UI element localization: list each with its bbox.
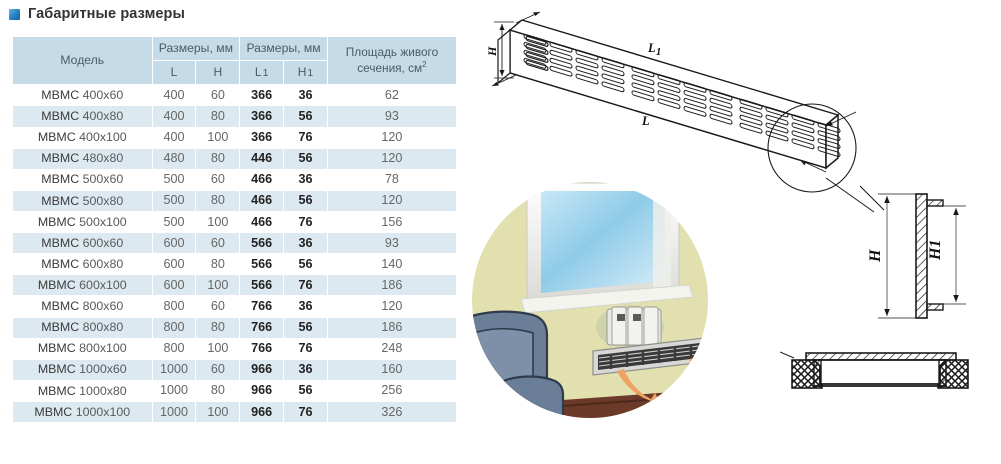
table-row: МВМС 800x10080010076676248 (13, 338, 457, 359)
flange-top (927, 200, 943, 206)
cell-free-area: 248 (327, 338, 456, 359)
cell-length-inner: 966 (240, 402, 284, 423)
cell-height-inner: 36 (284, 169, 328, 190)
cell-free-area: 78 (327, 169, 456, 190)
cell-length: 800 (152, 317, 196, 338)
cell-length-inner: 466 (240, 190, 284, 211)
cell-model: МВМС 600x60 (13, 233, 153, 254)
table-header-row-1: Модель Размеры, мм Размеры, мм Площадь ж… (13, 37, 457, 61)
table-row: МВМС 1000x8010008096656256 (13, 380, 457, 401)
cell-length: 500 (152, 169, 196, 190)
model-prefix: МВМС (38, 384, 76, 398)
model-size: 1000x100 (76, 405, 130, 419)
cell-free-area: 120 (327, 127, 456, 148)
free-area-line-2: сечения, см (357, 61, 422, 75)
svg-text:L: L (647, 41, 656, 55)
cell-length: 1000 (152, 402, 196, 423)
table-row: МВМС 800x608006076636120 (13, 296, 457, 317)
cell-height-inner: 36 (284, 296, 328, 317)
cell-height: 100 (196, 275, 240, 296)
svg-text:H: H (867, 249, 884, 263)
model-size: 1000x80 (79, 384, 127, 398)
model-prefix: МВМС (41, 320, 79, 334)
model-prefix: МВМС (41, 194, 79, 208)
model-prefix: МВМС (41, 151, 79, 165)
table-row: МВМС 480x804808044656120 (13, 148, 457, 169)
cell-height-inner: 56 (284, 148, 328, 169)
model-size: 480x80 (83, 151, 124, 165)
cell-height-inner: 56 (284, 380, 328, 401)
cell-model: МВМС 500x80 (13, 190, 153, 211)
svg-text:1: 1 (656, 47, 661, 58)
cell-height-inner: 56 (284, 317, 328, 338)
model-prefix: МВМС (41, 257, 79, 271)
cell-model: МВМС 400x80 (13, 106, 153, 127)
model-prefix: МВМС (41, 299, 79, 313)
cell-model: МВМС 400x60 (13, 85, 153, 106)
cell-length: 400 (152, 85, 196, 106)
table-row: МВМС 500x10050010046676156 (13, 212, 457, 233)
cell-free-area: 140 (327, 254, 456, 275)
cell-free-area: 326 (327, 402, 456, 423)
cell-height: 80 (196, 380, 240, 401)
model-size: 600x80 (83, 257, 124, 271)
duct-wall-left (814, 360, 821, 386)
cell-model: МВМС 800x100 (13, 338, 153, 359)
cell-height: 60 (196, 296, 240, 317)
table-row: МВМС 400x80400803665693 (13, 106, 457, 127)
cell-height-inner: 76 (284, 275, 328, 296)
cell-free-area: 186 (327, 275, 456, 296)
model-size: 400x100 (79, 130, 127, 144)
cell-free-area: 93 (327, 106, 456, 127)
cell-height-inner: 76 (284, 338, 328, 359)
free-area-line-1: Площадь живого (346, 45, 438, 59)
vertical-cross-section: H H1 (860, 180, 995, 345)
table-row: МВМС 1000x100100010096676326 (13, 402, 457, 423)
duct-wall-right (939, 360, 946, 386)
cell-free-area: 93 (327, 233, 456, 254)
cell-height-inner: 56 (284, 190, 328, 211)
cell-model: МВМС 1000x80 (13, 380, 153, 401)
cell-height: 80 (196, 317, 240, 338)
cell-length-inner: 566 (240, 275, 284, 296)
cell-free-area: 156 (327, 212, 456, 233)
cell-free-area: 62 (327, 85, 456, 106)
cell-length-inner: 466 (240, 212, 284, 233)
cell-height: 100 (196, 402, 240, 423)
cell-length: 480 (152, 148, 196, 169)
cell-height-inner: 36 (284, 359, 328, 380)
cell-model: МВМС 400x100 (13, 127, 153, 148)
column-header-h1-index: 1 (306, 67, 313, 79)
model-size: 600x60 (83, 236, 124, 250)
cell-model: МВМС 1000x100 (13, 402, 153, 423)
dimension-h: H (867, 194, 920, 318)
model-size: 600x100 (79, 278, 127, 292)
model-prefix: МВМС (41, 88, 79, 102)
cell-height: 80 (196, 190, 240, 211)
cell-height-inner: 56 (284, 106, 328, 127)
cell-height: 100 (196, 338, 240, 359)
cell-length: 400 (152, 127, 196, 148)
blue-square-bullet-icon (9, 9, 20, 20)
cell-length: 600 (152, 233, 196, 254)
column-header-l1-index: 1 (262, 67, 269, 79)
cell-length-inner: 766 (240, 296, 284, 317)
column-header-l1: L1 (240, 61, 284, 85)
cell-length-inner: 366 (240, 106, 284, 127)
cell-free-area: 160 (327, 359, 456, 380)
cell-model: МВМС 800x60 (13, 296, 153, 317)
cell-height: 80 (196, 106, 240, 127)
model-size: 400x80 (83, 109, 124, 123)
cell-free-area: 120 (327, 148, 456, 169)
cell-length: 600 (152, 254, 196, 275)
model-size: 500x100 (79, 215, 127, 229)
model-prefix: МВМС (41, 236, 79, 250)
cell-height: 80 (196, 148, 240, 169)
faceplate-horizontal (806, 353, 956, 360)
cell-height-inner: 76 (284, 127, 328, 148)
cell-length-inner: 966 (240, 380, 284, 401)
horizontal-cross-section-in-wall (780, 332, 980, 412)
cell-free-area: 186 (327, 317, 456, 338)
model-size: 800x60 (83, 299, 124, 313)
cell-length-inner: 766 (240, 317, 284, 338)
model-prefix: МВМС (41, 109, 79, 123)
cell-length-inner: 366 (240, 85, 284, 106)
model-prefix: МВМС (38, 130, 76, 144)
cell-height-inner: 56 (284, 254, 328, 275)
model-prefix: МВМС (38, 341, 76, 355)
table-row: МВМС 400x10040010036676120 (13, 127, 457, 148)
cell-model: МВМС 480x80 (13, 148, 153, 169)
svg-text:H: H (485, 46, 499, 57)
cell-height: 100 (196, 212, 240, 233)
cell-length-inner: 466 (240, 169, 284, 190)
cell-length: 500 (152, 212, 196, 233)
model-prefix: МВМС (38, 278, 76, 292)
cell-length: 800 (152, 338, 196, 359)
cell-height: 60 (196, 359, 240, 380)
cell-length: 800 (152, 296, 196, 317)
cell-length-inner: 566 (240, 233, 284, 254)
duct-body (814, 360, 946, 384)
cell-height-inner: 36 (284, 85, 328, 106)
cell-length-inner: 566 (240, 254, 284, 275)
detail-leader-in (860, 186, 884, 210)
cell-free-area: 120 (327, 296, 456, 317)
column-header-model: Модель (13, 37, 153, 85)
technical-drawings-panel: H L 1 L (470, 0, 1001, 464)
cell-length-inner: 766 (240, 338, 284, 359)
faceplate (916, 194, 927, 318)
cell-height: 80 (196, 254, 240, 275)
page-title-text: Габаритные размеры (28, 6, 185, 22)
cell-free-area: 120 (327, 190, 456, 211)
cell-length-inner: 446 (240, 148, 284, 169)
cell-model: МВМС 500x60 (13, 169, 153, 190)
model-size: 500x80 (83, 194, 124, 208)
table-row: МВМС 600x806008056656140 (13, 254, 457, 275)
table-row: МВМС 1000x6010006096636160 (13, 359, 457, 380)
cell-height-inner: 36 (284, 233, 328, 254)
cell-length: 1000 (152, 380, 196, 401)
column-header-h: H (196, 61, 240, 85)
cell-length-inner: 966 (240, 359, 284, 380)
table-row: МВМС 800x808008076656186 (13, 317, 457, 338)
cell-length: 1000 (152, 359, 196, 380)
dimensions-table: Модель Размеры, мм Размеры, мм Площадь ж… (12, 36, 457, 423)
cell-height: 60 (196, 169, 240, 190)
cell-model: МВМС 600x80 (13, 254, 153, 275)
leader-line (780, 352, 794, 358)
table-row: МВМС 400x60400603663662 (13, 85, 457, 106)
table-body: МВМС 400x60400603663662МВМС 400x80400803… (13, 85, 457, 423)
column-header-dims-group-1: Размеры, мм (152, 37, 240, 61)
radiator (596, 305, 664, 349)
cell-free-area: 256 (327, 380, 456, 401)
cell-model: МВМС 800x80 (13, 317, 153, 338)
column-header-l: L (152, 61, 196, 85)
table-row: МВМС 500x805008046656120 (13, 190, 457, 211)
column-header-dims-group-2: Размеры, мм (240, 37, 328, 61)
dimension-label-l1: L 1 (647, 41, 661, 58)
model-size: 400x60 (83, 88, 124, 102)
column-header-h1: H1 (284, 61, 328, 85)
cell-length: 400 (152, 106, 196, 127)
table-row: МВМС 500x60500604663678 (13, 169, 457, 190)
model-prefix: МВМС (41, 172, 79, 186)
cell-model: МВМС 600x100 (13, 275, 153, 296)
model-size: 800x80 (83, 320, 124, 334)
table-row: МВМС 600x10060010056676186 (13, 275, 457, 296)
model-size: 1000x60 (79, 362, 127, 376)
specifications-panel: Габаритные размеры Модель Размеры, мм Ра… (0, 0, 470, 464)
cell-height: 60 (196, 233, 240, 254)
room-installation-illustration (465, 175, 715, 425)
cell-height: 60 (196, 85, 240, 106)
column-header-free-area: Площадь живого сечения, см2 (327, 37, 456, 85)
model-prefix: МВМС (38, 362, 76, 376)
cell-height: 100 (196, 127, 240, 148)
cell-length-inner: 366 (240, 127, 284, 148)
model-size: 800x100 (79, 341, 127, 355)
dimension-h1: H1 (927, 206, 966, 304)
model-size: 500x60 (83, 172, 124, 186)
free-area-superscript: 2 (422, 60, 426, 69)
cell-length: 600 (152, 275, 196, 296)
model-prefix: МВМС (38, 215, 76, 229)
cell-height-inner: 76 (284, 212, 328, 233)
cell-model: МВМС 500x100 (13, 212, 153, 233)
grille-face (498, 20, 838, 168)
cell-height-inner: 76 (284, 402, 328, 423)
flange-bottom (927, 304, 943, 310)
model-prefix: МВМС (34, 405, 72, 419)
page-title: Габаритные размеры (9, 6, 185, 22)
window (527, 183, 679, 305)
cell-length: 500 (152, 190, 196, 211)
table-header: Модель Размеры, мм Размеры, мм Площадь ж… (13, 37, 457, 85)
column-header-l1-base: L (255, 65, 262, 79)
svg-text:H1: H1 (927, 240, 944, 261)
cell-model: МВМС 1000x60 (13, 359, 153, 380)
dimension-label-l: L (641, 114, 650, 128)
table-row: МВМС 600x60600605663693 (13, 233, 457, 254)
